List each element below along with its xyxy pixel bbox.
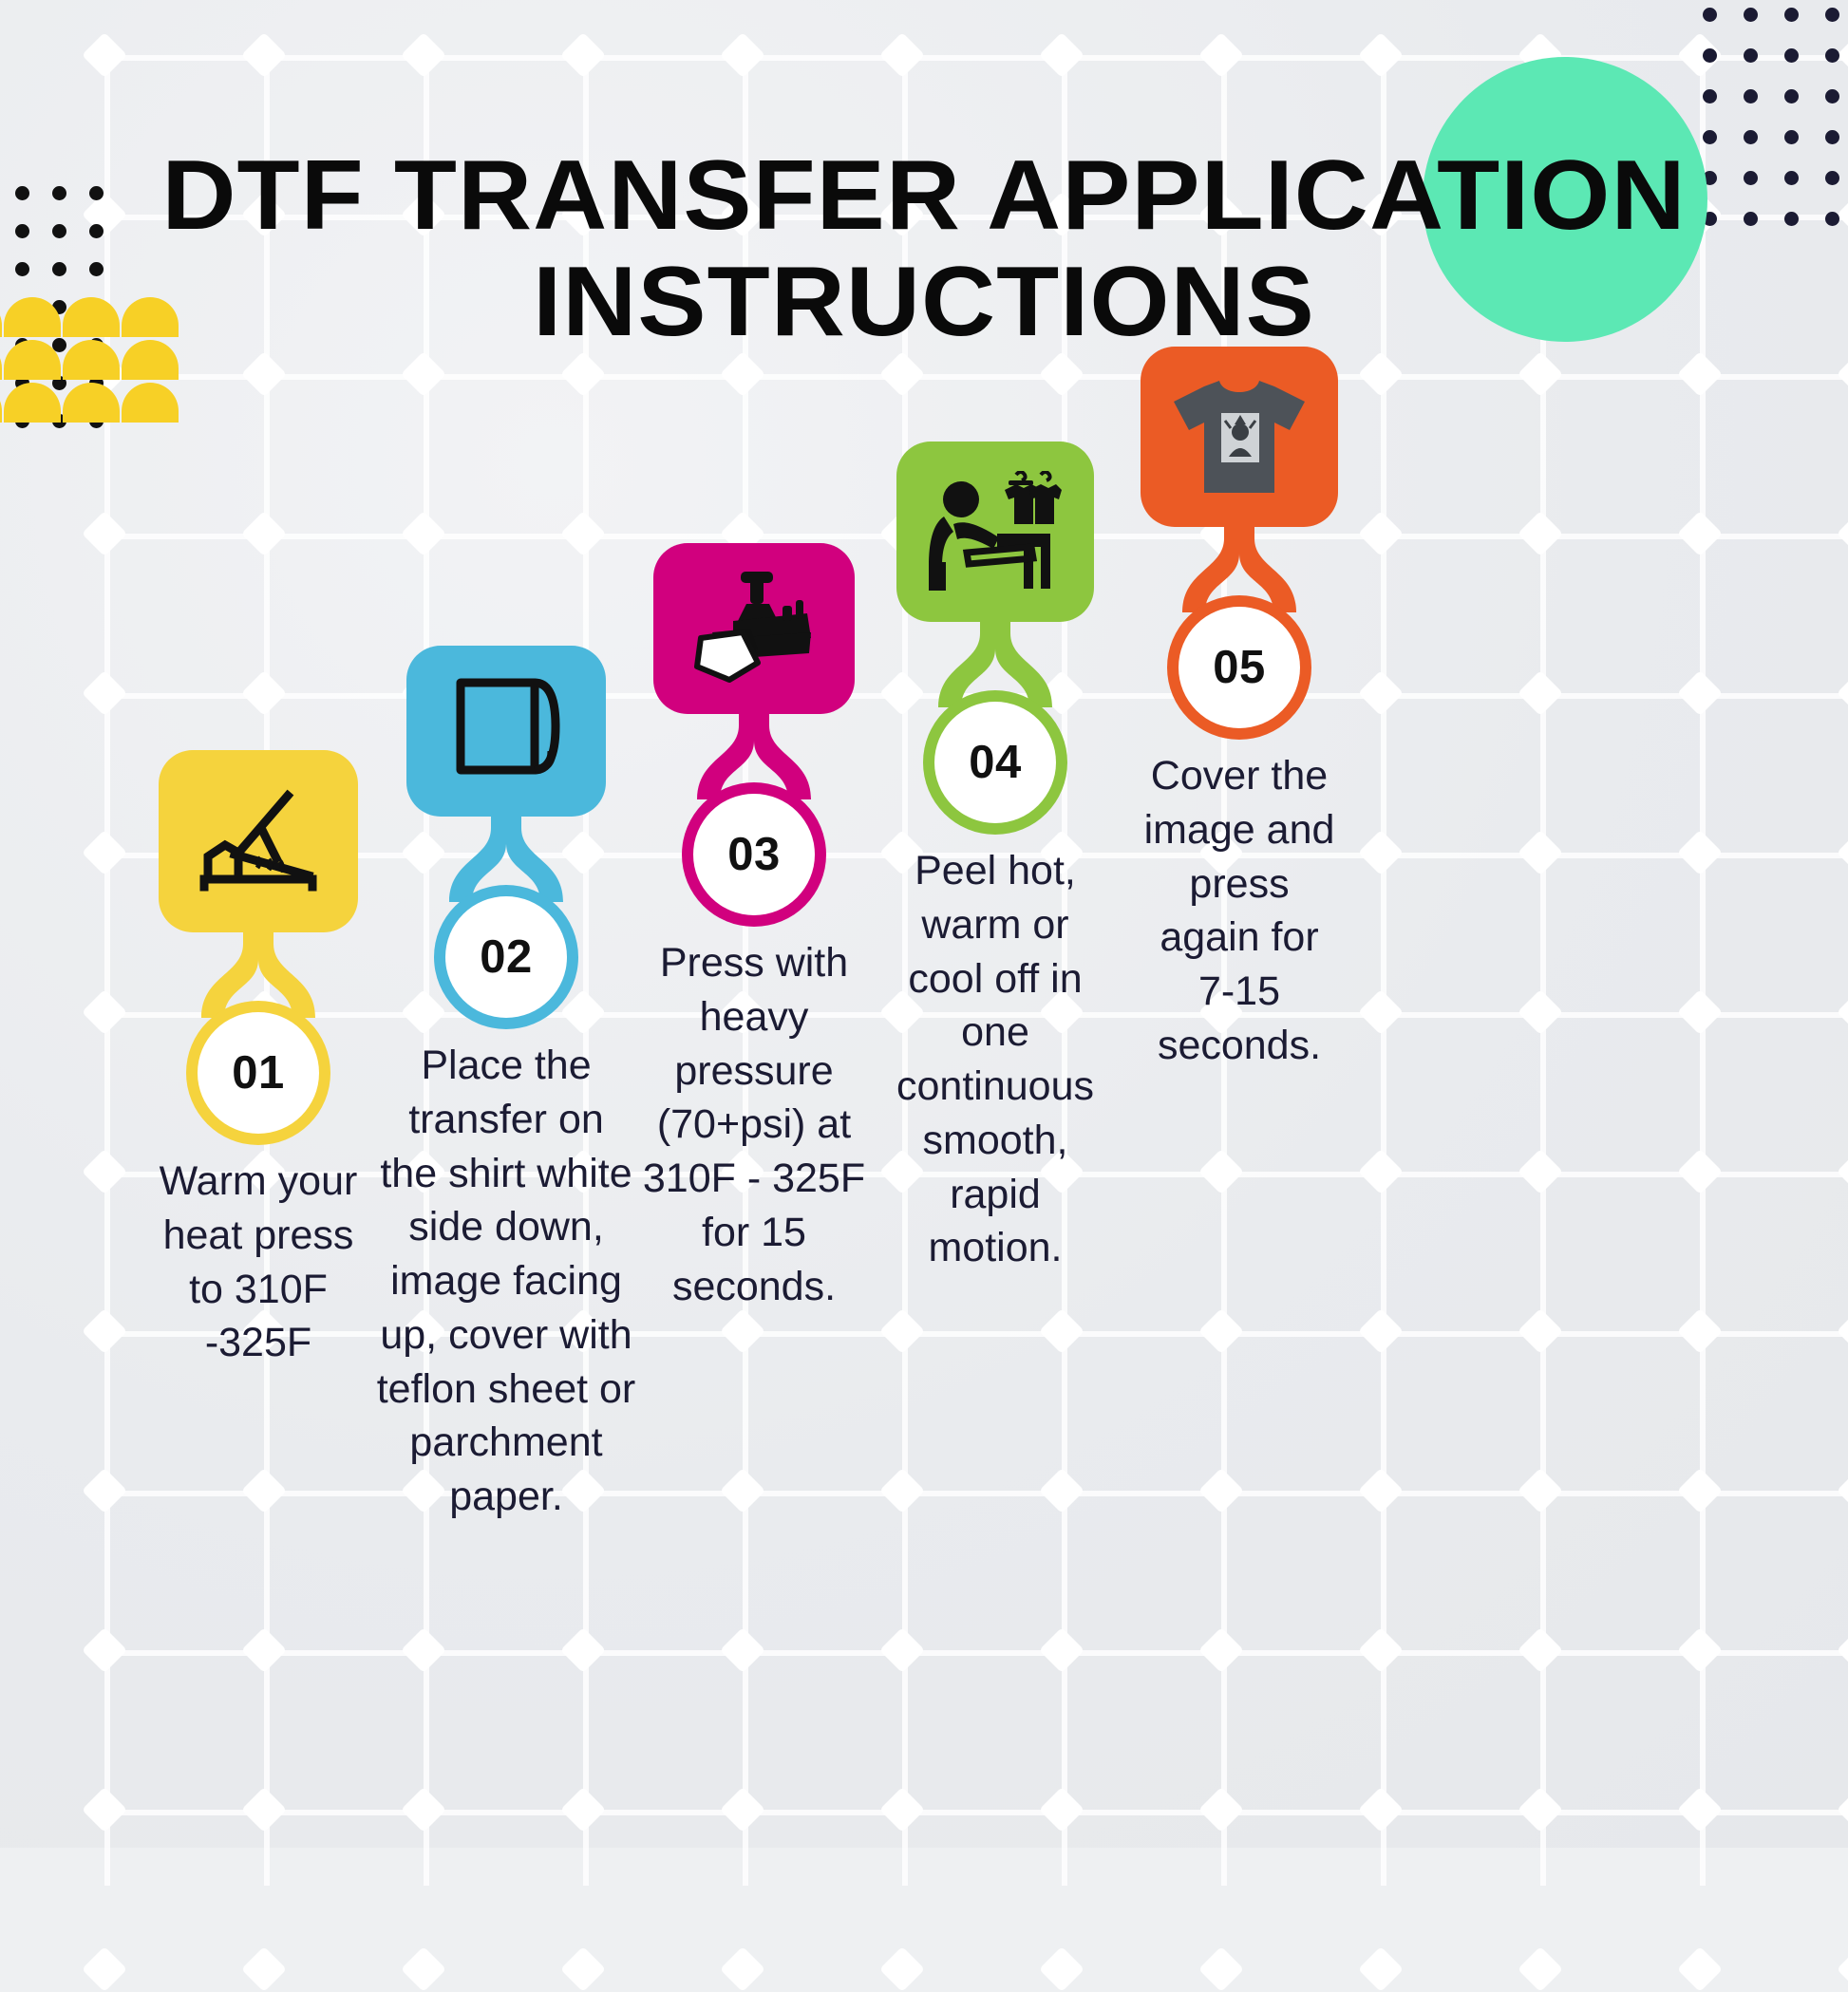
- pressing-machine-icon: [691, 572, 817, 686]
- step-card-05: 05 Cover the image and press again for 7…: [1097, 347, 1382, 1073]
- step-04-icon-card: [896, 442, 1094, 622]
- step-02-caption: Place the transfer on the shirt white si…: [364, 1039, 649, 1524]
- step-05-icon-card: [1141, 347, 1338, 527]
- step-02-connector: [449, 815, 563, 902]
- step-03-icon-card: [653, 543, 855, 714]
- grid-diamond: [401, 1946, 446, 1992]
- step-03-number: 03: [727, 828, 781, 881]
- grid-diamond: [1677, 1946, 1723, 1992]
- page-title: DTF TRANSFER APPLICATION INSTRUCTIONS: [0, 142, 1848, 356]
- grid-diamond: [1837, 1946, 1848, 1992]
- step-05-number: 05: [1213, 641, 1266, 694]
- step-04-number-badge: 04: [934, 702, 1056, 823]
- step-01-icon-card: [159, 750, 358, 932]
- step-01-number: 01: [232, 1046, 285, 1099]
- step-04-number: 04: [969, 736, 1022, 789]
- step-05-caption: Cover the image and press again for 7-15…: [1097, 749, 1382, 1073]
- page-title-line-2: INSTRUCTIONS: [0, 249, 1848, 355]
- step-01-number-badge: 01: [198, 1012, 319, 1134]
- step-02-number: 02: [480, 930, 533, 984]
- grid-diamond: [1198, 1946, 1244, 1992]
- page-title-line-1: DTF TRANSFER APPLICATION: [0, 142, 1848, 249]
- step-05-connector: [1182, 525, 1296, 612]
- heat-press-icon: [197, 788, 320, 894]
- step-01-caption: Warm your heat press to 310F -325F: [116, 1155, 401, 1370]
- step-05-number-badge: 05: [1179, 607, 1300, 728]
- grid-diamond: [720, 1946, 765, 1992]
- step-card-01: 01 Warm your heat press to 310F -325F: [116, 750, 401, 1370]
- grid-diamond: [560, 1946, 606, 1992]
- step-03-neck-shape: [697, 712, 811, 799]
- step-04-neck-shape: [938, 620, 1052, 707]
- step-02-number-badge: 02: [445, 896, 567, 1018]
- grid-diamond: [1518, 1946, 1563, 1992]
- step-card-04: 04 Peel hot, warm or cool off in one con…: [853, 442, 1138, 1275]
- step-02-icon-card: [406, 646, 606, 817]
- grid-diamond: [82, 1946, 127, 1992]
- step-card-02: 02 Place the transfer on the shirt white…: [364, 646, 649, 1524]
- step-03-connector: [697, 712, 811, 799]
- step-05-neck-shape: [1182, 525, 1296, 612]
- peeling-person-icon: [929, 471, 1062, 592]
- step-01-neck-shape: [201, 930, 315, 1018]
- grid-diamond: [241, 1946, 287, 1992]
- transfer-sheet-icon: [447, 675, 565, 787]
- step-04-connector: [938, 620, 1052, 707]
- step-04-caption: Peel hot, warm or cool off in one contin…: [853, 844, 1138, 1275]
- printed-tshirt-icon: [1168, 375, 1311, 498]
- grid-diamond: [1358, 1946, 1404, 1992]
- step-02-neck-shape: [449, 815, 563, 902]
- step-03-number-badge: 03: [693, 794, 815, 915]
- step-01-connector: [201, 930, 315, 1018]
- grid-diamond: [1039, 1946, 1084, 1992]
- grid-diamond: [879, 1946, 925, 1992]
